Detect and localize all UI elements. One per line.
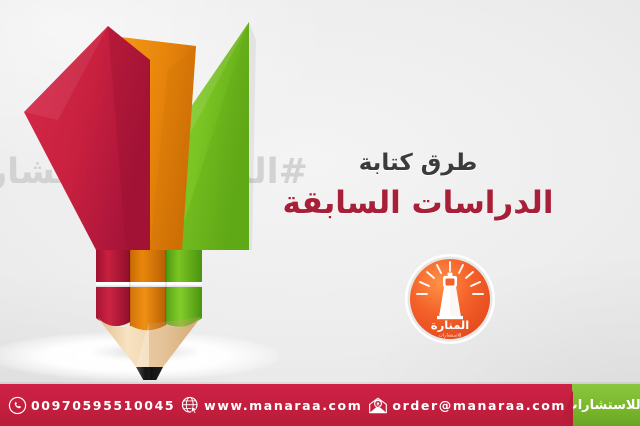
- website-url: www.manaraa.com: [204, 398, 362, 413]
- footer-item-website[interactable]: www.manaraa.com: [181, 396, 362, 415]
- title-line-2: الدراسات السابقة: [268, 182, 568, 224]
- globe-cursor-icon: [181, 396, 200, 415]
- red-ribbon: [24, 26, 150, 250]
- envelope-at-icon: [368, 396, 388, 415]
- hashtag-text: #المنارة_للاستشارات: [565, 398, 640, 413]
- promo-banner: #المنارة_للاستشارات: [0, 0, 640, 426]
- footer-hashtag-strip[interactable]: #المنارة_للاستشارات: [572, 384, 640, 426]
- phone-number: 00970595510045: [31, 398, 175, 413]
- logo-subcaption: للاستشارات: [439, 334, 462, 339]
- footer-item-email[interactable]: order@manaraa.com: [368, 396, 566, 415]
- footer-bar: 00970595510045 www.manaraa.com: [0, 384, 640, 426]
- logo-caption: المنارة: [431, 318, 469, 332]
- almanara-lighthouse-logo[interactable]: المنارة للاستشارات: [404, 253, 496, 345]
- page-title: طرق كتابة الدراسات السابقة: [268, 148, 568, 224]
- tricolor-pencil-illustration: [0, 0, 300, 380]
- footer-contact-strip: 00970595510045 www.manaraa.com: [0, 384, 572, 426]
- title-line-1: طرق كتابة: [268, 148, 568, 178]
- email-address: order@manaraa.com: [392, 398, 566, 413]
- pencil-body: [96, 250, 202, 380]
- whatsapp-icon: [8, 396, 27, 415]
- footer-item-phone[interactable]: 00970595510045: [8, 396, 175, 415]
